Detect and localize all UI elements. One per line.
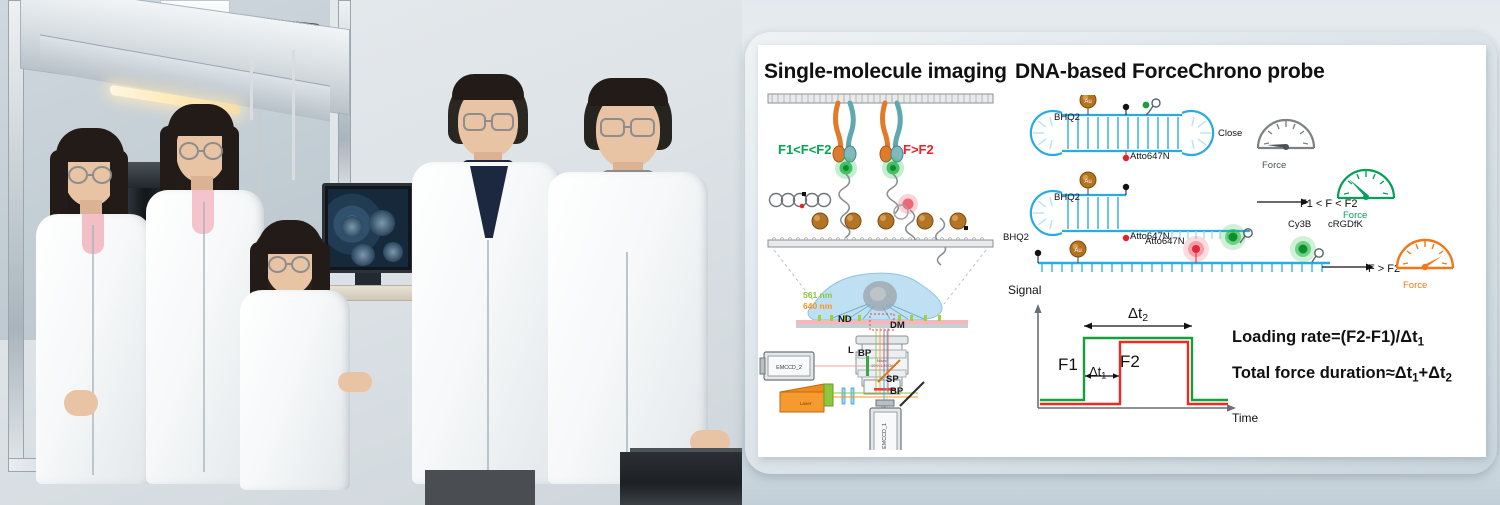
person-4-coat-placket [487,240,489,470]
person-5-glasses-bridge [625,126,631,128]
person-4-hair-front [452,74,524,100]
lab-bench [620,452,742,505]
page-root: Single-molecule imaging DNA-based ForceC… [0,0,1500,505]
person-3-hand [338,372,372,392]
person-2-glasses-left [179,142,199,160]
chart-x-axis-label: Time [1232,411,1258,425]
person-5-labcoat [548,172,708,484]
person-4-glasses-bridge [486,120,492,122]
formula-loading-rate-subscript: 1 [1418,336,1424,348]
label-cy3b: Cy3B [1288,219,1311,230]
label-force-range-low: F1<F<F2 [778,142,831,157]
arrow-to-state-row2 [1255,190,1315,210]
probe-row-closed: Au [1031,95,1213,161]
delta-t1-subscript: 1 [1101,371,1106,381]
force-gauge-high [1392,228,1458,280]
formula-duration-text: Total force duration≈Δt [1232,364,1412,382]
label-shortpass: SP [886,374,899,385]
delta-t1-text: Δt [1089,364,1101,379]
person-4-glasses-left [463,113,486,131]
force-gauge-closed [1253,108,1319,160]
label-force-range-high: F>F2 [903,142,934,157]
label-wavelength-561: 561 nm [803,290,832,300]
lab-team-photograph [0,0,742,505]
detection-optics-diagram: EMCCD_2 EMCCD_1 [758,330,1003,450]
formula-loading-rate-text: Loading rate=(F2-F1)/Δt [1232,328,1418,346]
gauge-label-medium: Force [1343,210,1367,221]
person-1-labcoat [36,214,152,484]
person-2-glasses-right [203,142,223,160]
label-atto647n-row3: Atto647N [1145,236,1185,247]
person-1-glasses-right [92,166,112,184]
top-coverslip [768,94,993,103]
person-3-glasses-left [268,256,287,273]
label-nd-filter: ND [838,314,852,325]
person-5-coat-placket [626,252,628,472]
y-axis-arrow [1034,304,1041,313]
svg-text:Au: Au [1084,99,1091,105]
cable-2 [292,50,322,180]
panel-title-single-molecule-imaging: Single-molecule imaging [764,60,1007,84]
svg-text:Au: Au [1074,248,1081,254]
person-2-coat-placket [203,202,205,472]
person-4-trousers [425,470,535,505]
label-wavelength-640: 640 nm [803,301,832,311]
person-1-glasses-left [68,166,88,184]
label-lens: L [848,345,854,356]
person-5-glasses-right [630,118,655,137]
computer-monitor [322,183,414,273]
svg-text:EMCCD_1: EMCCD_1 [882,423,888,449]
person-3-labcoat [240,290,350,490]
person-1-hands [64,390,98,416]
svg-text:EMCCD_2: EMCCD_2 [776,365,802,371]
chart-label-delta-t2: Δt2 [1128,305,1148,324]
gauge-label-closed: Force [1262,160,1286,171]
person-5-hair-front [588,78,668,106]
person-1-glasses-bridge [88,174,93,176]
screen-cell-1 [341,216,363,238]
svg-text:Au: Au [1084,179,1091,185]
chart-label-f2: F2 [1120,352,1140,372]
bandpass-filter-1 [866,356,869,376]
chart-label-f1: F1 [1058,355,1078,375]
person-2-glasses-bridge [199,150,204,152]
delta-t2-text: Δt [1128,305,1142,322]
screen-cell-2 [369,210,395,236]
frame-post-left [8,0,24,470]
label-atto647n-row1: Atto647N [1130,151,1170,162]
formula-duration-mid: +Δt [1419,364,1446,382]
free-probes [770,192,831,208]
chart-y-axis-label: Signal [1008,283,1041,297]
chart-label-delta-t1: Δt1 [1089,364,1106,381]
person-1-coat-placket [92,225,94,475]
label-bhq2-row1: BHQ2 [1054,112,1080,123]
label-state-close: Close [1218,128,1242,139]
person-3-glasses-bridge [287,263,292,265]
integrin-pair-2 [880,103,903,162]
integrin-pair-1 [833,103,856,162]
force-gauge-medium [1333,158,1399,210]
person-3-glasses-right [291,256,310,273]
formula-duration-subscript-2: 2 [1446,372,1452,384]
screen-cell-4 [383,242,403,262]
label-bhq2-row2: BHQ2 [1054,192,1080,203]
glass-surface [768,238,993,248]
formula-total-force-duration: Total force duration≈Δt1+Δt2 [1232,364,1452,384]
emccd1-camera: EMCCD_1 [870,400,901,450]
person-5-glasses-left [600,118,625,137]
label-dichroic-mirror: DM [890,320,905,331]
delta-t2-subscript: 2 [1142,312,1148,324]
arrow-to-state-row3 [1320,255,1380,275]
screen-cell-3 [351,244,375,266]
panel-title-dna-forcechrono-probe: DNA-based ForceChrono probe [1015,60,1325,84]
emccd2-camera: EMCCD_2 [760,352,814,380]
label-bandpass-2: BP [890,386,903,397]
gauge-label-high: Force [1403,280,1427,291]
formula-loading-rate: Loading rate=(F2-F1)/Δt1 [1232,328,1424,348]
person-4-glasses-right [491,113,514,131]
label-bandpass-1: BP [858,348,871,359]
label-bhq2-row3: BHQ2 [1003,232,1029,243]
